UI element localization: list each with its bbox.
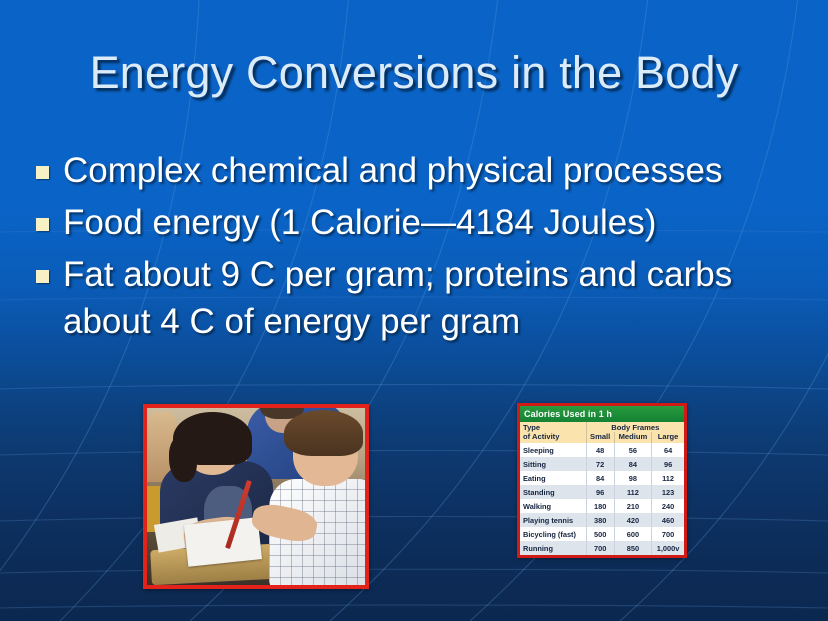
cell-medium: 210 <box>614 499 651 513</box>
cell-activity: Sitting <box>520 457 586 471</box>
table-row: Eating 84 98 112 <box>520 471 684 485</box>
bullet-item: Complex chemical and physical processes <box>36 148 806 194</box>
column-header-medium: Medium <box>614 432 651 443</box>
column-header-small: Small <box>586 432 614 443</box>
classroom-photo <box>143 404 369 589</box>
photo-notebook <box>184 518 262 568</box>
calories-table-head: Calories Used in 1 h Type of Activity Bo… <box>520 406 684 443</box>
cell-large: 460 <box>652 513 684 527</box>
calories-table-body: Sleeping 48 56 64 Sitting 72 84 96 Eatin… <box>520 443 684 555</box>
cell-medium: 56 <box>614 443 651 457</box>
calories-table-header-row: Type of Activity Body Frames <box>520 422 684 432</box>
bullet-text: Food energy (1 Calorie—4184 Joules) <box>63 200 806 246</box>
cell-medium: 600 <box>614 527 651 541</box>
cell-activity: Running <box>520 541 586 555</box>
bullet-square-icon <box>36 270 49 283</box>
table-row: Standing 96 112 123 <box>520 485 684 499</box>
cell-medium: 84 <box>614 457 651 471</box>
cell-activity: Standing <box>520 485 586 499</box>
cell-large: 96 <box>652 457 684 471</box>
cell-small: 96 <box>586 485 614 499</box>
cell-large: 1,000v <box>652 541 684 555</box>
activity-header-line2: of Activity <box>523 432 559 441</box>
calories-table-title-row: Calories Used in 1 h <box>520 406 684 422</box>
cell-medium: 850 <box>614 541 651 555</box>
bullet-item: Food energy (1 Calorie—4184 Joules) <box>36 200 806 246</box>
bullet-text: Complex chemical and physical processes <box>63 148 806 194</box>
photo-girl-hair-side <box>169 436 197 482</box>
table-row: Walking 180 210 240 <box>520 499 684 513</box>
column-header-large: Large <box>652 432 684 443</box>
calories-table: Calories Used in 1 h Type of Activity Bo… <box>517 403 687 558</box>
bullet-square-icon <box>36 166 49 179</box>
bullet-list: Complex chemical and physical processes … <box>36 148 806 351</box>
table-row: Running 700 850 1,000v <box>520 541 684 555</box>
cell-activity: Sleeping <box>520 443 586 457</box>
bullet-item: Fat about 9 C per gram; proteins and car… <box>36 252 806 344</box>
cell-medium: 420 <box>614 513 651 527</box>
table-row: Playing tennis 380 420 460 <box>520 513 684 527</box>
table-row: Bicycling (fast) 500 600 700 <box>520 527 684 541</box>
slide: Energy Conversions in the Body Complex c… <box>0 0 828 621</box>
cell-large: 240 <box>652 499 684 513</box>
cell-large: 112 <box>652 471 684 485</box>
cell-small: 500 <box>586 527 614 541</box>
cell-large: 64 <box>652 443 684 457</box>
photo-boy-hair <box>284 410 362 456</box>
cell-medium: 112 <box>614 485 651 499</box>
cell-small: 180 <box>586 499 614 513</box>
photo-scene <box>147 408 365 585</box>
cell-activity: Walking <box>520 499 586 513</box>
cell-large: 700 <box>652 527 684 541</box>
cell-activity: Playing tennis <box>520 513 586 527</box>
cell-small: 72 <box>586 457 614 471</box>
bullet-square-icon <box>36 218 49 231</box>
cell-activity: Eating <box>520 471 586 485</box>
cell-activity: Bicycling (fast) <box>520 527 586 541</box>
cell-small: 48 <box>586 443 614 457</box>
body-frames-group-header: Body Frames <box>586 422 684 432</box>
slide-title: Energy Conversions in the Body <box>0 47 828 99</box>
cell-medium: 98 <box>614 471 651 485</box>
cell-small: 380 <box>586 513 614 527</box>
cell-small: 700 <box>586 541 614 555</box>
activity-column-header: Type of Activity <box>520 422 586 443</box>
cell-small: 84 <box>586 471 614 485</box>
bullet-text: Fat about 9 C per gram; proteins and car… <box>63 252 806 344</box>
calories-table-grid: Calories Used in 1 h Type of Activity Bo… <box>520 406 684 555</box>
calories-table-title: Calories Used in 1 h <box>520 406 684 422</box>
table-row: Sleeping 48 56 64 <box>520 443 684 457</box>
cell-large: 123 <box>652 485 684 499</box>
table-row: Sitting 72 84 96 <box>520 457 684 471</box>
